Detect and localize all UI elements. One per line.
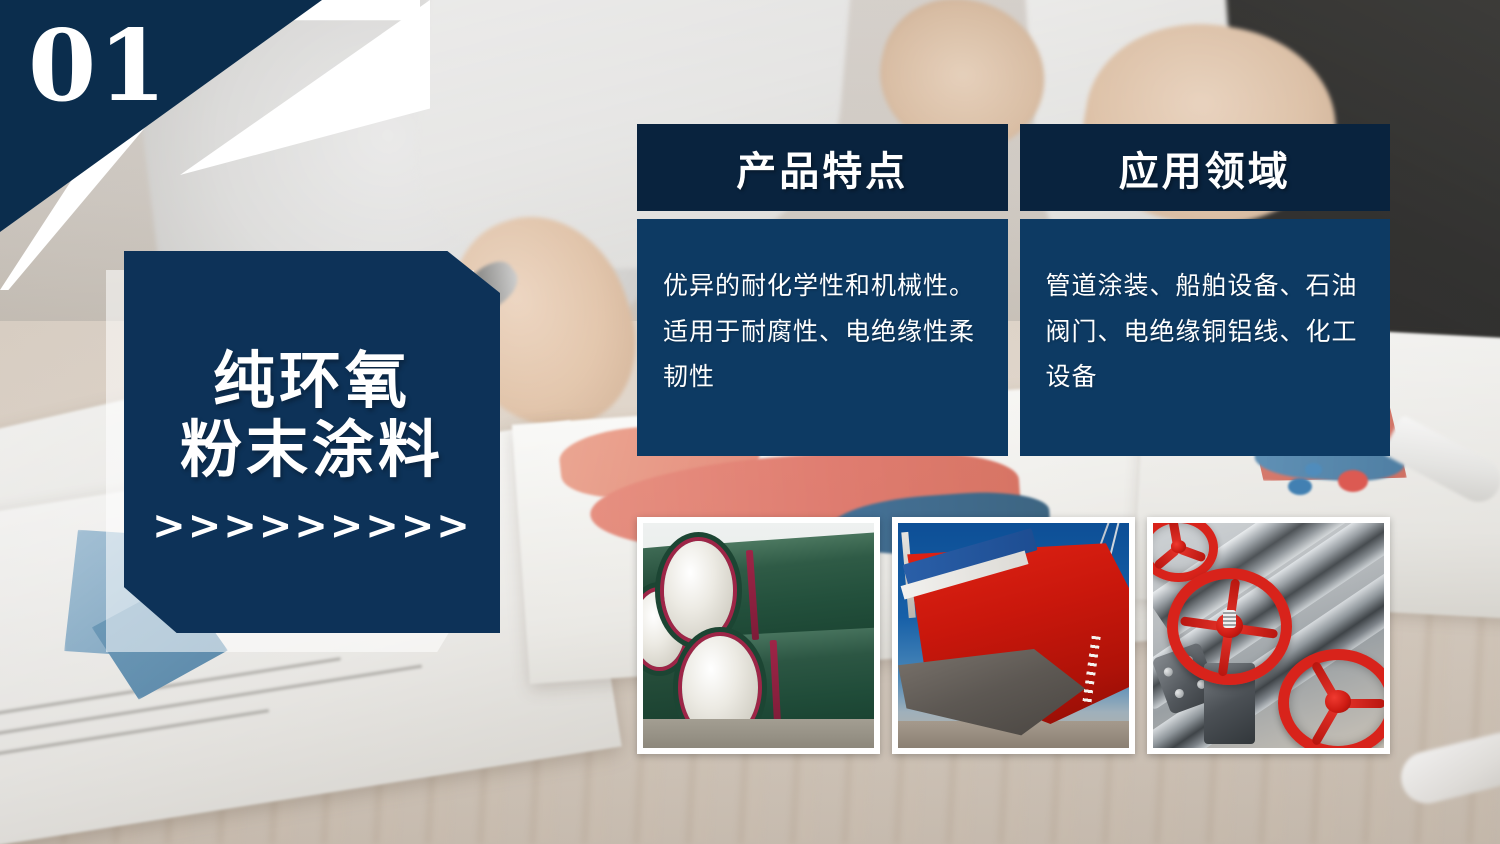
- heading-box-product-features: 产品特点: [637, 124, 1008, 211]
- body-text-product-features: 优异的耐化学性和机械性。适用于耐腐性、电绝缘性柔韧性: [663, 263, 982, 400]
- photo-red-valve-handwheels: [1147, 517, 1390, 754]
- heading-label-application-fields: 应用领域: [1119, 139, 1291, 197]
- heading-box-application-fields: 应用领域: [1020, 124, 1391, 211]
- title-line-2: 粉末涂料: [146, 415, 478, 484]
- chevron-arrows-icon: >>>>>>>>>: [146, 506, 478, 546]
- heading-label-product-features: 产品特点: [736, 139, 908, 197]
- photo-red-ship-hull: [892, 517, 1135, 754]
- body-box-product-features: 优异的耐化学性和机械性。适用于耐腐性、电绝缘性柔韧性: [637, 219, 1008, 456]
- body-text-application-fields: 管道涂装、船舶设备、石油阀门、电绝缘铜铝线、化工设备: [1046, 263, 1365, 400]
- title-card: 纯环氧 粉末涂料 >>>>>>>>>: [124, 251, 500, 633]
- photo-green-coated-steel-pipes: [637, 517, 880, 754]
- panel-body-row: 优异的耐化学性和机械性。适用于耐腐性、电绝缘性柔韧性 管道涂装、船舶设备、石油阀…: [637, 219, 1390, 456]
- section-number: 01: [28, 16, 168, 119]
- photo-strip: [637, 517, 1390, 754]
- presentation-slide: 01 纯环氧 粉末涂料 >>>>>>>>> 产品特点 应用领域 优异的耐化学性和…: [0, 0, 1500, 844]
- title-line-1: 纯环氧: [146, 346, 478, 415]
- panel-heading-row: 产品特点 应用领域: [637, 124, 1390, 211]
- body-box-application-fields: 管道涂装、船舶设备、石油阀门、电绝缘铜铝线、化工设备: [1020, 219, 1391, 456]
- info-panel: 产品特点 应用领域 优异的耐化学性和机械性。适用于耐腐性、电绝缘性柔韧性 管道涂…: [637, 124, 1390, 456]
